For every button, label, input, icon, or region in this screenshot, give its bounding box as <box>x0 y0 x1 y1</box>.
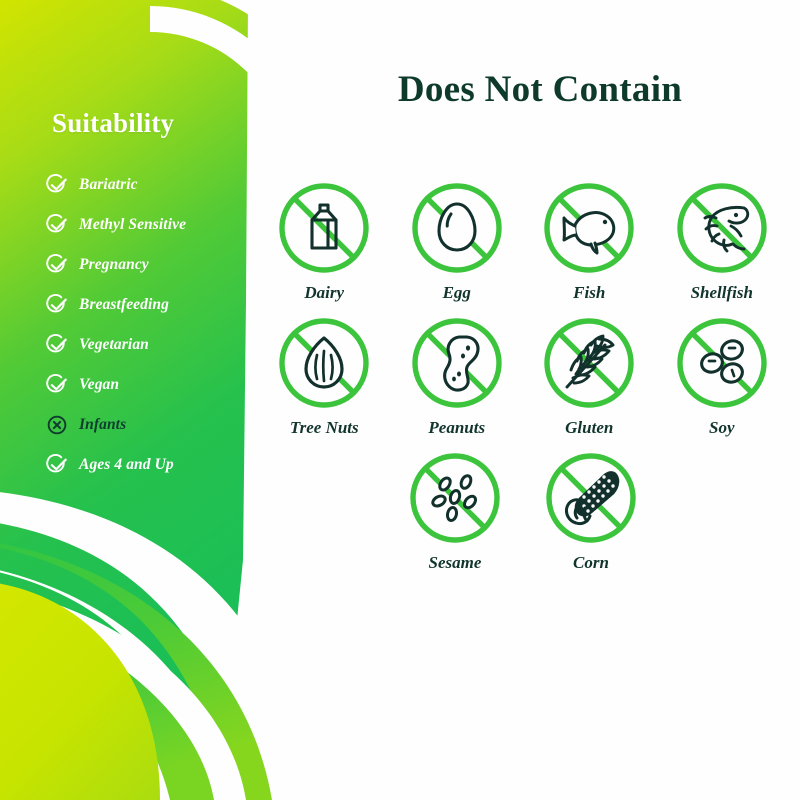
allergen-item-tree-nuts[interactable]: Tree Nuts <box>258 313 391 438</box>
allergen-label: Corn <box>573 553 609 573</box>
milk-carton-icon <box>274 178 374 278</box>
allergen-info-card: Suitability Bariatric Methyl Sensitive <box>0 0 800 800</box>
allergen-label: Peanuts <box>428 418 485 438</box>
egg-icon <box>407 178 507 278</box>
check-circle-icon <box>46 374 68 396</box>
allergen-row: Dairy Egg <box>258 178 788 313</box>
allergen-item-peanuts[interactable]: Peanuts <box>391 313 524 438</box>
suitability-item-label: Methyl Sensitive <box>79 216 186 234</box>
allergen-item-fish[interactable]: Fish <box>523 178 656 303</box>
suitability-item-bariatric[interactable]: Bariatric <box>46 168 266 202</box>
allergen-row: Tree Nuts Peanuts <box>258 313 788 448</box>
suitability-item-label: Breastfeeding <box>79 296 169 314</box>
corn-cob-icon <box>541 448 641 548</box>
allergen-label: Tree Nuts <box>290 418 359 438</box>
allergen-item-egg[interactable]: Egg <box>391 178 524 303</box>
suitability-item-label: Pregnancy <box>79 256 149 274</box>
suitability-item-infants[interactable]: Infants <box>46 408 266 442</box>
suitability-item-label: Ages 4 and Up <box>79 456 174 474</box>
suitability-item-breastfeeding[interactable]: Breastfeeding <box>46 288 266 322</box>
x-circle-icon <box>46 414 68 436</box>
peanut-icon <box>407 313 507 413</box>
suitability-content: Suitability Bariatric Methyl Sensitive <box>0 0 260 800</box>
allergen-item-gluten[interactable]: Gluten <box>523 313 656 438</box>
suitability-item-vegetarian[interactable]: Vegetarian <box>46 328 266 362</box>
suitability-item-label: Vegan <box>79 376 119 394</box>
does-not-contain-grid: Dairy Egg <box>258 178 788 583</box>
suitability-item-label: Infants <box>79 416 126 434</box>
suitability-item-label: Vegetarian <box>79 336 149 354</box>
check-circle-icon <box>46 294 68 316</box>
almond-icon <box>274 313 374 413</box>
allergen-label: Egg <box>443 283 471 303</box>
suitability-list: Bariatric Methyl Sensitive Pregnancy <box>46 168 266 488</box>
suitability-item-label: Bariatric <box>79 176 138 194</box>
allergen-label: Soy <box>709 418 735 438</box>
allergen-label: Sesame <box>429 553 482 573</box>
wheat-icon <box>539 313 639 413</box>
allergen-item-corn[interactable]: Corn <box>523 448 659 573</box>
suitability-item-ages-4-and-up[interactable]: Ages 4 and Up <box>46 448 266 482</box>
allergen-label: Shellfish <box>691 283 753 303</box>
allergen-item-soy[interactable]: Soy <box>656 313 789 438</box>
allergen-row: Sesame <box>258 448 788 583</box>
allergen-item-dairy[interactable]: Dairy <box>258 178 391 303</box>
allergen-label: Fish <box>573 283 605 303</box>
check-circle-icon <box>46 334 68 356</box>
suitability-item-methyl-sensitive[interactable]: Methyl Sensitive <box>46 208 266 242</box>
check-circle-icon <box>46 214 68 236</box>
fish-icon <box>539 178 639 278</box>
allergen-item-sesame[interactable]: Sesame <box>387 448 523 573</box>
check-circle-icon <box>46 454 68 476</box>
suitability-title: Suitability <box>52 108 174 139</box>
allergen-label: Dairy <box>304 283 344 303</box>
sesame-seeds-icon <box>405 448 505 548</box>
allergen-item-shellfish[interactable]: Shellfish <box>656 178 789 303</box>
suitability-item-pregnancy[interactable]: Pregnancy <box>46 248 266 282</box>
soybean-icon <box>672 313 772 413</box>
suitability-item-vegan[interactable]: Vegan <box>46 368 266 402</box>
check-circle-icon <box>46 174 68 196</box>
allergen-label: Gluten <box>565 418 613 438</box>
check-circle-icon <box>46 254 68 276</box>
shrimp-icon <box>672 178 772 278</box>
page-title: Does Not Contain <box>300 68 780 111</box>
